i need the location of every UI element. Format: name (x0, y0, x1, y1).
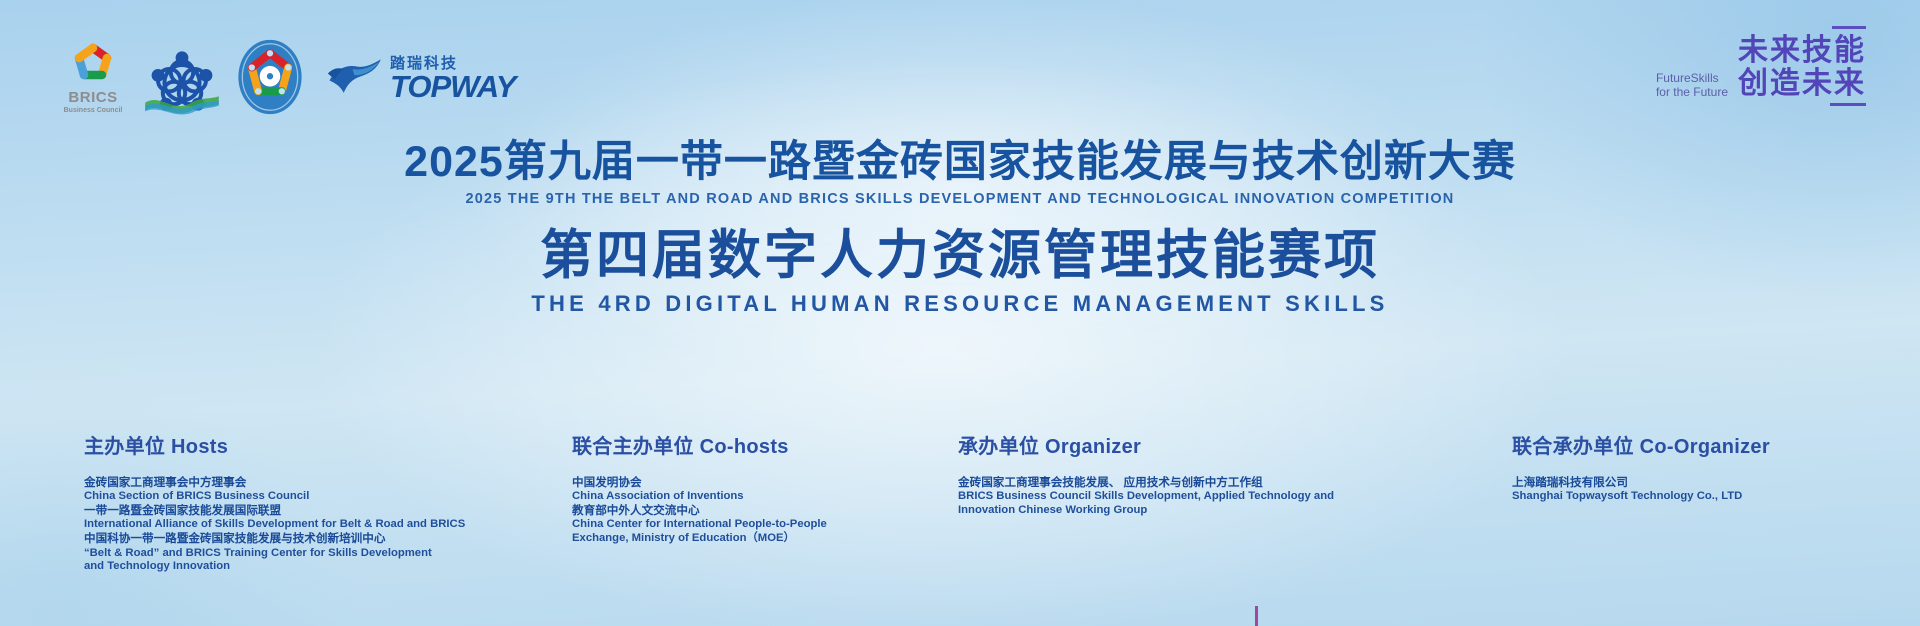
future-skills-slogan: 未来技能 FutureSkills for the Future 创造未来 (1656, 26, 1866, 112)
organizer-line: Innovation Chinese Working Group (958, 504, 1388, 518)
organizer-line: “Belt & Road” and BRICS Training Center … (84, 547, 514, 561)
organizer-body: 金砖国家工商理事会中方理事会 China Section of BRICS Bu… (84, 476, 514, 574)
title-block: 2025第九届一带一路暨金砖国家技能发展与技术创新大赛 2025 THE 9TH… (0, 140, 1920, 317)
organizer-line: 金砖国家工商理事会技能发展、 应用技术与创新中方工作组 (958, 476, 1388, 490)
organizer-line: and Technology Innovation (84, 560, 514, 574)
slogan-english-line-2: for the Future (1656, 85, 1728, 99)
organizer-columns: 主办单位 Hosts 金砖国家工商理事会中方理事会 China Section … (0, 430, 1920, 620)
organizer-column-hosts: 主办单位 Hosts 金砖国家工商理事会中方理事会 China Section … (84, 430, 514, 574)
interlocking-rings-icon (142, 37, 222, 117)
gear-star-emblem-icon (236, 37, 304, 117)
competition-banner: BRICS Business Council (0, 0, 1920, 626)
organizer-heading: 联合承办单位 Co-Organizer (1512, 430, 1902, 459)
organizer-line: China Association of Inventions (572, 490, 932, 504)
organizer-line: Exchange, Ministry of Education（MOE） (572, 532, 932, 546)
organizer-line: Shanghai Topwaysoft Technology Co., LTD (1512, 490, 1902, 504)
subtitle-english: THE 4RD DIGITAL HUMAN RESOURCE MANAGEMEN… (0, 291, 1920, 317)
topway-wordmark: TOPWAY (390, 73, 515, 102)
organizer-line: BRICS Business Council Skills Developmen… (958, 490, 1388, 504)
main-title-chinese: 2025第九届一带一路暨金砖国家技能发展与技术创新大赛 (0, 140, 1920, 186)
slogan-english: FutureSkills for the Future (1656, 71, 1728, 99)
brics-wordmark: BRICS (68, 90, 117, 105)
organizer-heading: 联合主办单位 Co-hosts (572, 430, 932, 459)
organizer-line: 一带一路暨金砖国家技能发展国际联盟 (84, 504, 514, 518)
organizer-heading: 承办单位 Organizer (958, 430, 1388, 459)
organizer-line: International Alliance of Skills Develop… (84, 518, 514, 532)
organizer-line: 金砖国家工商理事会中方理事会 (84, 476, 514, 490)
organizer-line: 教育部中外人文交流中心 (572, 504, 932, 518)
slogan-english-line-1: FutureSkills (1656, 71, 1728, 85)
main-title-english: 2025 THE 9TH THE BELT AND ROAD AND BRICS… (0, 191, 1920, 207)
organizer-line: China Center for International People-to… (572, 518, 932, 532)
bottom-magenta-tick (1255, 606, 1258, 626)
slogan-line-2: 创造未来 (1738, 69, 1866, 99)
organizer-column-organizer: 承办单位 Organizer 金砖国家工商理事会技能发展、 应用技术与创新中方工… (958, 430, 1388, 518)
brics-sub-wordmark: Business Council (64, 107, 123, 114)
skills-competition-emblem-logo (236, 37, 304, 117)
organizer-line: China Section of BRICS Business Council (84, 490, 514, 504)
organizer-line: 中国科协一带一路暨金砖国家技能发展与技术创新培训中心 (84, 532, 514, 546)
slogan-line-1: 未来技能 (1656, 35, 1866, 67)
organizer-body: 金砖国家工商理事会技能发展、 应用技术与创新中方工作组 BRICS Busine… (958, 476, 1388, 518)
subtitle-chinese: 第四届数字人力资源管理技能赛项 (0, 227, 1920, 285)
slogan-top-rule (1832, 26, 1866, 29)
belt-road-brics-alliance-logo (142, 37, 222, 117)
brics-star-icon (68, 41, 118, 89)
logo-row: BRICS Business Council (60, 34, 515, 120)
organizer-body: 上海踏瑞科技有限公司 Shanghai Topwaysoft Technolog… (1512, 476, 1902, 504)
topway-logo: 踏瑞科技 TOPWAY (326, 52, 515, 102)
organizer-column-coorganizer: 联合承办单位 Co-Organizer 上海踏瑞科技有限公司 Shanghai … (1512, 430, 1902, 504)
organizer-line: 中国发明协会 (572, 476, 932, 490)
organizer-body: 中国发明协会 China Association of Inventions 教… (572, 476, 932, 546)
dragon-icon (326, 54, 388, 100)
brics-business-council-logo: BRICS Business Council (60, 37, 126, 117)
organizer-column-cohosts: 联合主办单位 Co-hosts 中国发明协会 China Association… (572, 430, 932, 546)
organizer-heading: 主办单位 Hosts (84, 430, 514, 459)
organizer-line: 上海踏瑞科技有限公司 (1512, 476, 1902, 490)
slogan-bottom-rule (1830, 103, 1866, 106)
